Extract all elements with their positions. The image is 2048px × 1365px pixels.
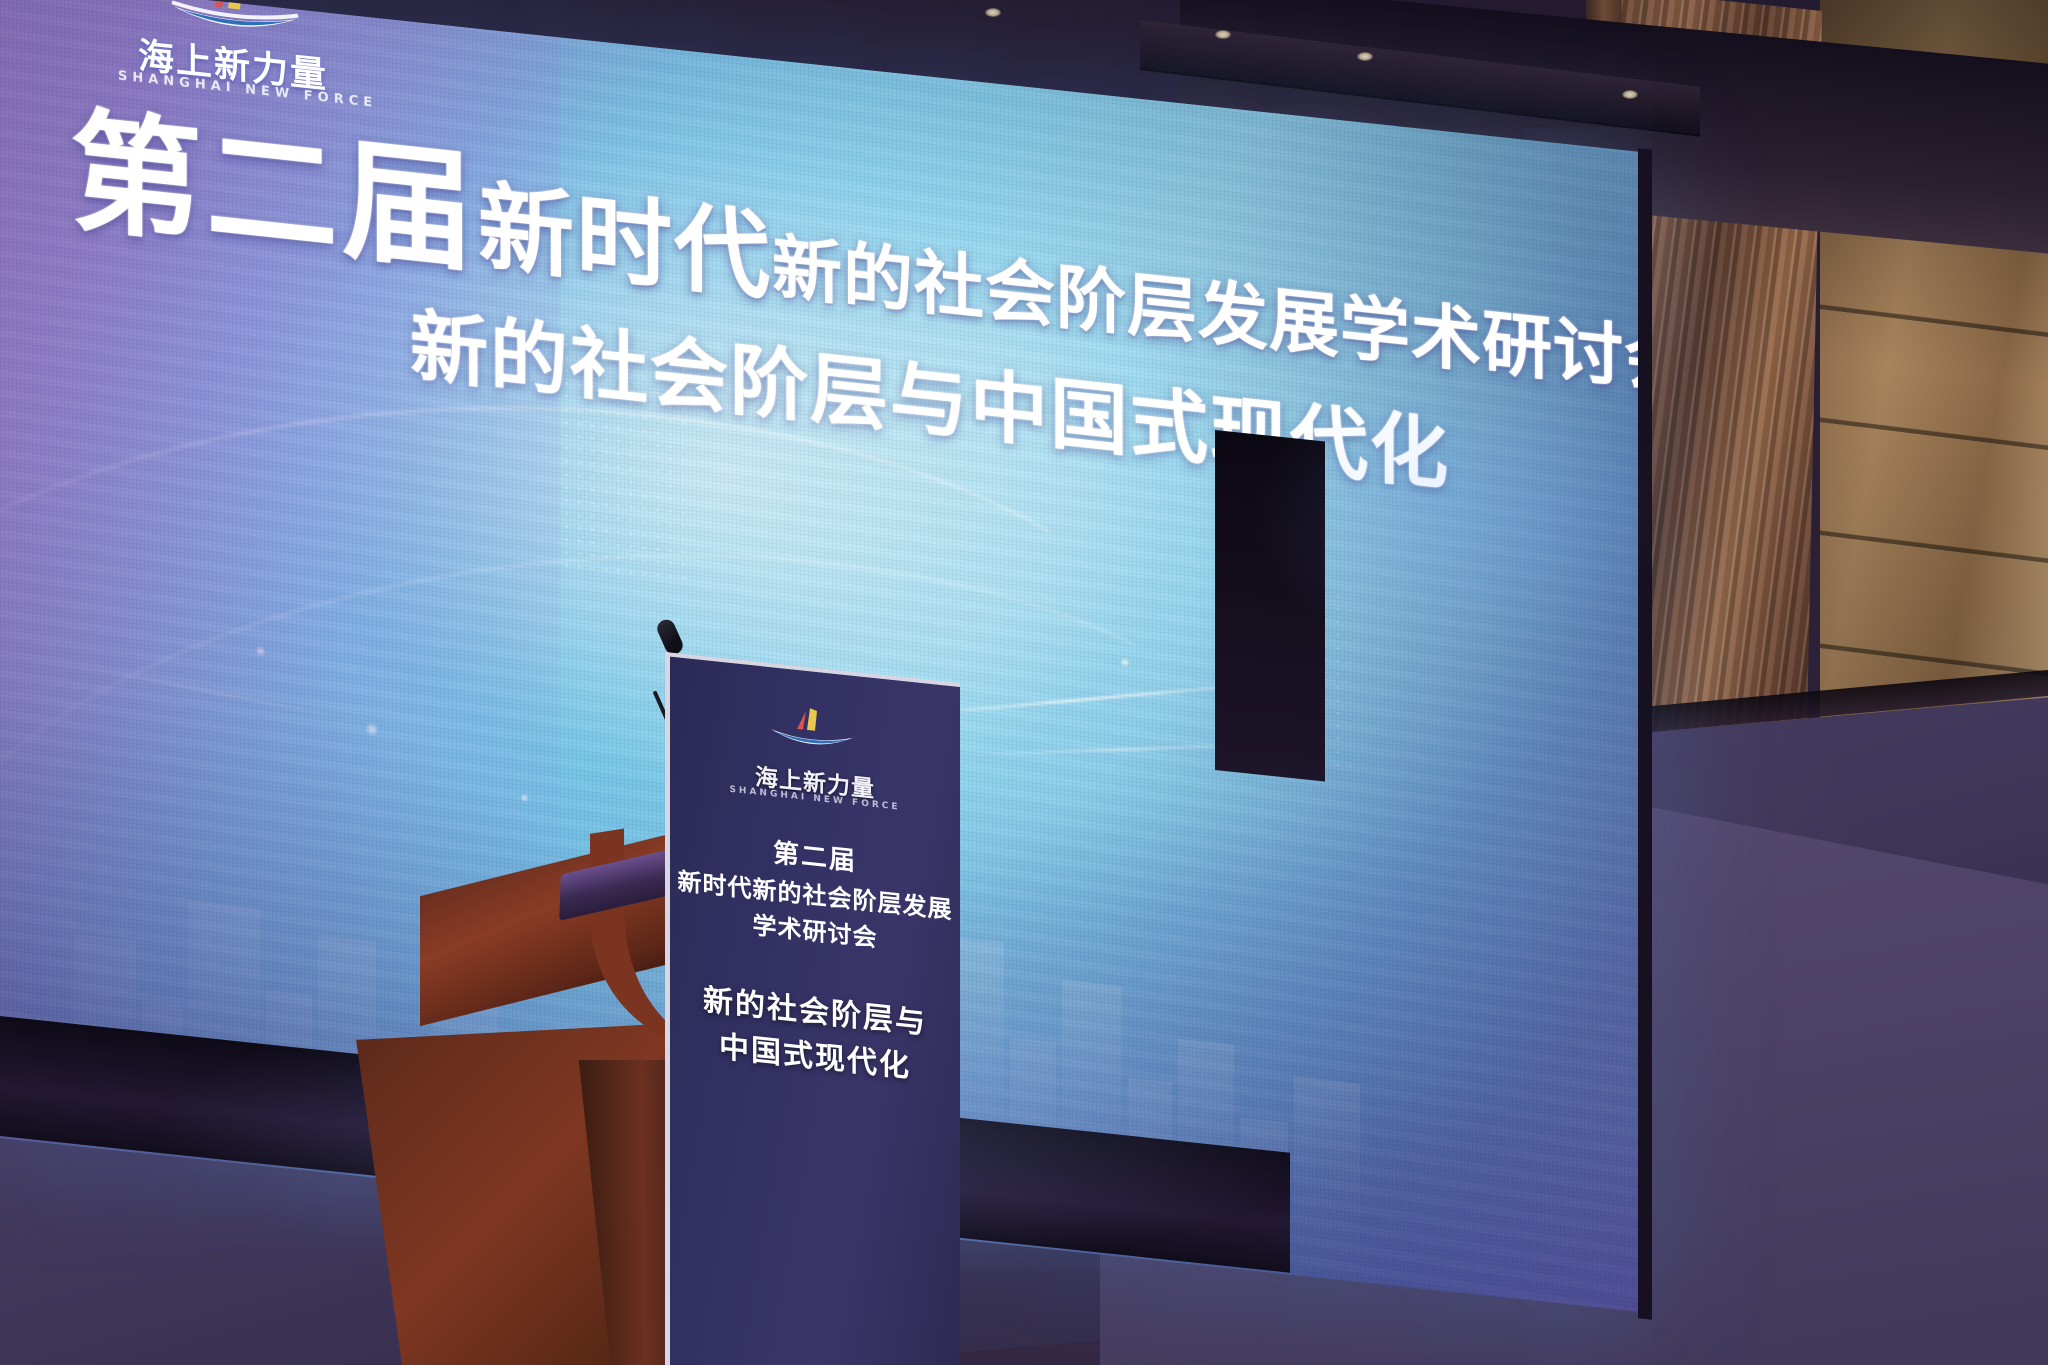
lectern: 海上新力量 SHANGHAI NEW FORCE 第二届 新时代新的社会阶层发展… [560,640,1020,1365]
ceiling-light-icon [985,8,1001,17]
ceiling-light-icon [1357,52,1373,61]
ceiling-light-icon [1215,30,1231,39]
placard-subtitle-block: 新的社会阶层与 中国式现代化 [670,975,960,1095]
sail-boat-icon [768,703,856,760]
screen-title-part-era: 新时代 [478,171,772,314]
placard-title-block: 第二届 新时代新的社会阶层发展 学术研讨会 [670,825,960,965]
conference-stage-scene: 海上新力量 SHANGHAI NEW FORCE 第二届新时代新的社会阶层发展学… [0,0,2048,1365]
ceiling-light-icon [1622,90,1638,99]
screen-right-dark-panel [1215,430,1325,782]
lectern-placard: 海上新力量 SHANGHAI NEW FORCE 第二届 新时代新的社会阶层发展… [665,652,960,1365]
